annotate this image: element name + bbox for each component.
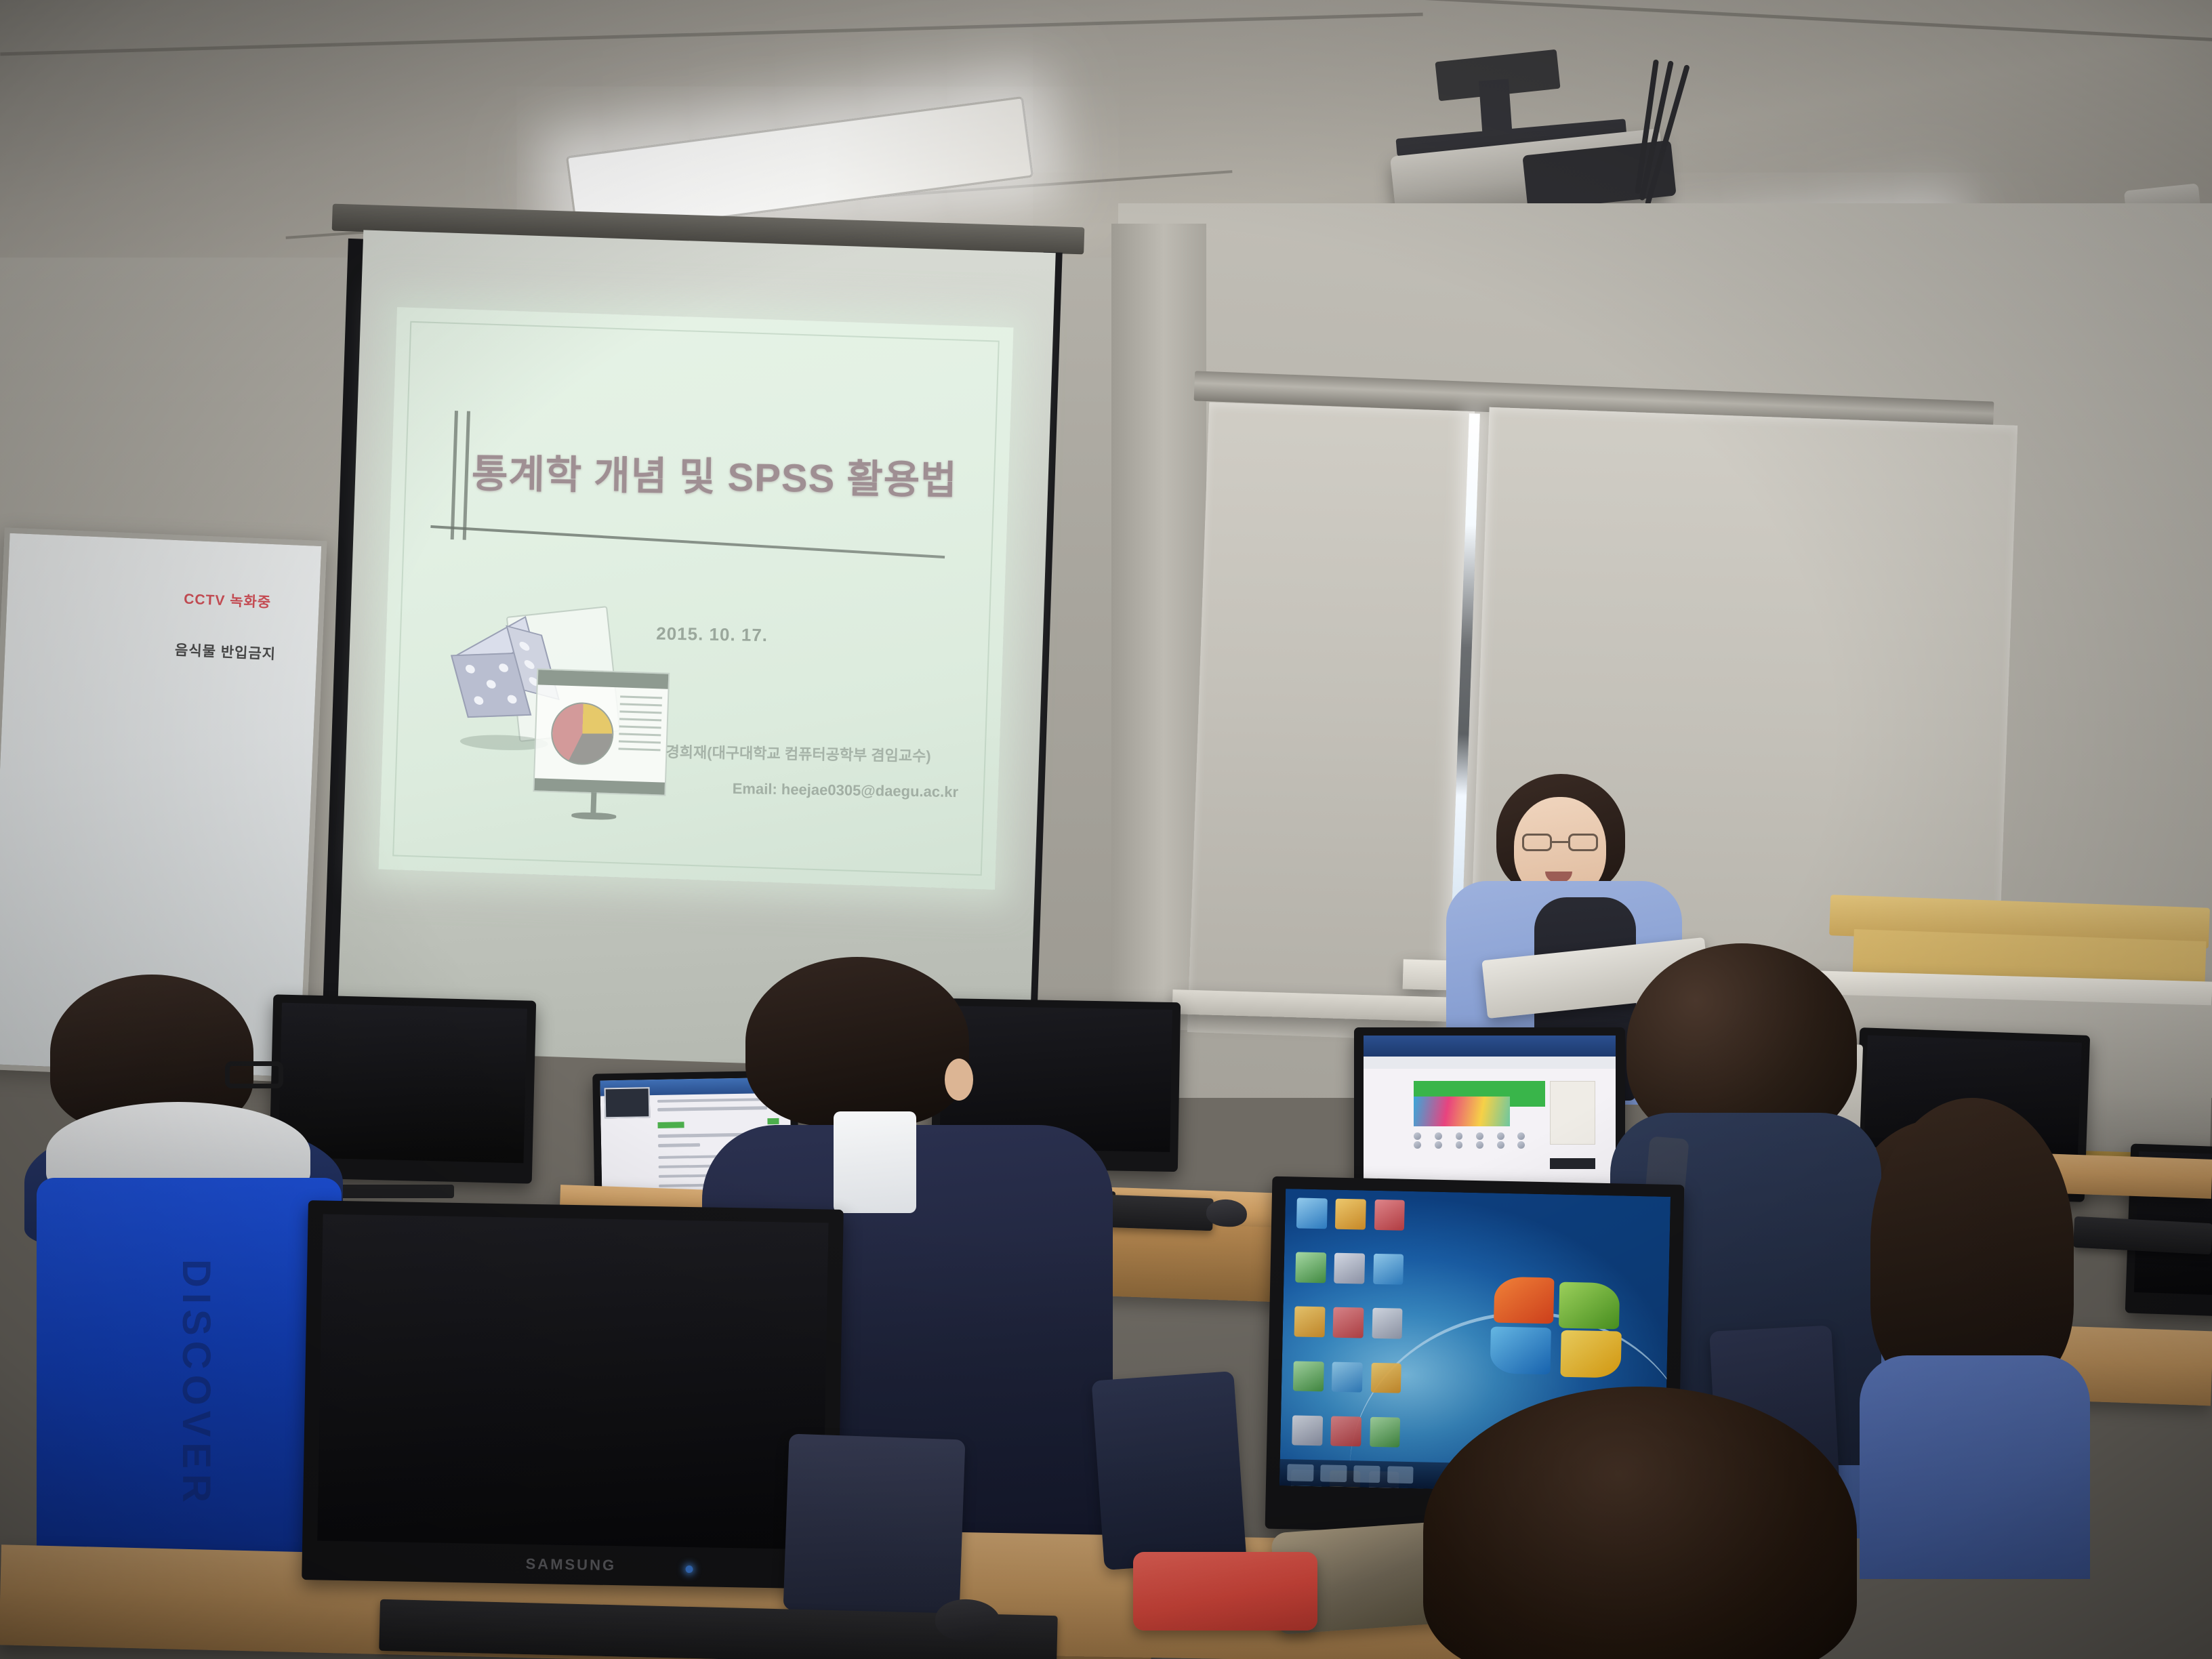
slide-author: 경희재(대구대학교 컴퓨터공학부 겸임교수) bbox=[665, 740, 931, 766]
student-foreground bbox=[1423, 1387, 1857, 1659]
page-icon-grid[interactable] bbox=[1414, 1132, 1525, 1147]
document-thumbnail bbox=[604, 1087, 650, 1119]
taskbar-start-button[interactable] bbox=[1287, 1464, 1313, 1481]
window-blind[interactable] bbox=[1187, 402, 1475, 1041]
windows-logo-icon bbox=[1490, 1276, 1622, 1380]
student-hair bbox=[1423, 1387, 1857, 1659]
browser-titlebar bbox=[1364, 1036, 1616, 1057]
slide-email: Email: heejae0305@daegu.ac.kr bbox=[733, 780, 959, 801]
page-sidebar-footer bbox=[1550, 1158, 1595, 1169]
taskbar-item[interactable] bbox=[1354, 1465, 1380, 1482]
student-hair bbox=[745, 957, 969, 1126]
keyboard[interactable] bbox=[2073, 1216, 2212, 1255]
student-body bbox=[1860, 1355, 2090, 1579]
student-shirt-collar bbox=[834, 1111, 916, 1213]
monitor-brand-label: SAMSUNG bbox=[525, 1555, 616, 1574]
slide-date: 2015. 10. 17. bbox=[656, 623, 768, 647]
classroom-photo-scene: 통계학 개념 및 SPSS 활용법 bbox=[0, 0, 2212, 1659]
monitor-browser-screen[interactable] bbox=[1364, 1036, 1616, 1187]
student-long-hair bbox=[1870, 1098, 2087, 1586]
desktop-icon-grid[interactable] bbox=[1292, 1198, 1404, 1442]
chair[interactable] bbox=[783, 1434, 966, 1616]
student-ear bbox=[945, 1059, 973, 1101]
glasses-icon bbox=[1522, 834, 1598, 851]
taskbar-item[interactable] bbox=[1387, 1466, 1414, 1483]
presentation-board-icon bbox=[533, 668, 670, 796]
monitor-foreground-left-screen[interactable] bbox=[317, 1214, 828, 1550]
clipart-board-base bbox=[571, 812, 616, 820]
clipart-text-lines bbox=[617, 695, 662, 778]
page-hero-image bbox=[1414, 1097, 1509, 1127]
chair[interactable] bbox=[1091, 1371, 1246, 1570]
red-pencil-case[interactable] bbox=[1133, 1552, 1317, 1631]
shirt-back-text: DISCOVER bbox=[173, 1259, 219, 1508]
slide-clipart bbox=[443, 600, 673, 825]
food-notice-text: 음식물 반입금지 bbox=[147, 638, 304, 665]
browser-toolbar[interactable] bbox=[1364, 1057, 1616, 1069]
cctv-notice-text: CCTV 녹화중 bbox=[149, 586, 306, 613]
monitor-foreground-left: SAMSUNG bbox=[302, 1200, 844, 1589]
taskbar-item[interactable] bbox=[1321, 1465, 1347, 1481]
projected-slide: 통계학 개념 및 SPSS 활용법 bbox=[378, 307, 1013, 890]
student-hair bbox=[1870, 1098, 2074, 1389]
monitor-power-led bbox=[685, 1565, 693, 1573]
browser-page[interactable] bbox=[1364, 1036, 1616, 1187]
glasses-icon bbox=[225, 1061, 283, 1088]
slide-title: 통계학 개념 및 SPSS 활용법 bbox=[472, 442, 947, 506]
pie-chart-icon bbox=[550, 701, 615, 766]
whiteboard-notice: CCTV 녹화중 음식물 반입금지 bbox=[147, 586, 306, 665]
document-highlight bbox=[657, 1122, 684, 1128]
page-sidebar bbox=[1550, 1081, 1595, 1145]
